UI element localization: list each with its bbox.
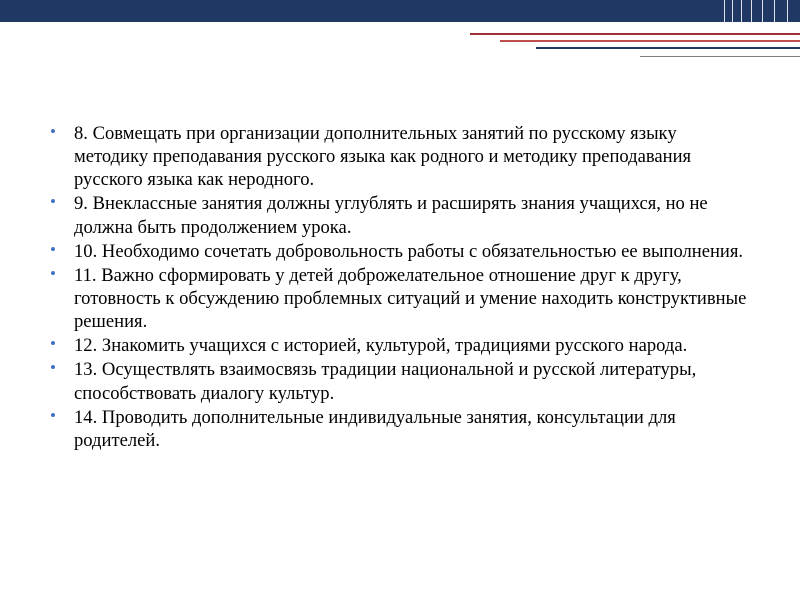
list-item: 11. Важно сформировать у детей доброжела… (40, 264, 752, 333)
header-band-accent (722, 0, 800, 22)
list-item: 13. Осуществлять взаимосвязь традиции на… (40, 358, 752, 404)
header-hairline (751, 0, 752, 22)
decor-rule-red-light (500, 40, 800, 42)
header-hairline (762, 0, 763, 22)
header-band (0, 0, 800, 22)
list-item: 9. Внеклассные занятия должны углублять … (40, 192, 752, 238)
list-item: 8. Совмещать при организации дополнитель… (40, 122, 752, 191)
list-item: 10. Необходимо сочетать добровольность р… (40, 240, 752, 263)
list-item: 14. Проводить дополнительные индивидуаль… (40, 406, 752, 452)
bullet-list: 8. Совмещать при организации дополнитель… (40, 122, 752, 452)
decor-rule-gray (640, 56, 800, 57)
header-hairline (741, 0, 742, 22)
header-hairline (787, 0, 788, 22)
header-hairline (724, 0, 725, 22)
list-item: 12. Знакомить учащихся с историей, культ… (40, 334, 752, 357)
header-hairline (774, 0, 775, 22)
slide-body: 8. Совмещать при организации дополнитель… (40, 122, 752, 453)
decor-rule-blue (536, 47, 800, 49)
decor-rule-red (470, 33, 800, 35)
header-hairline (732, 0, 733, 22)
slide: 8. Совмещать при организации дополнитель… (0, 0, 800, 600)
